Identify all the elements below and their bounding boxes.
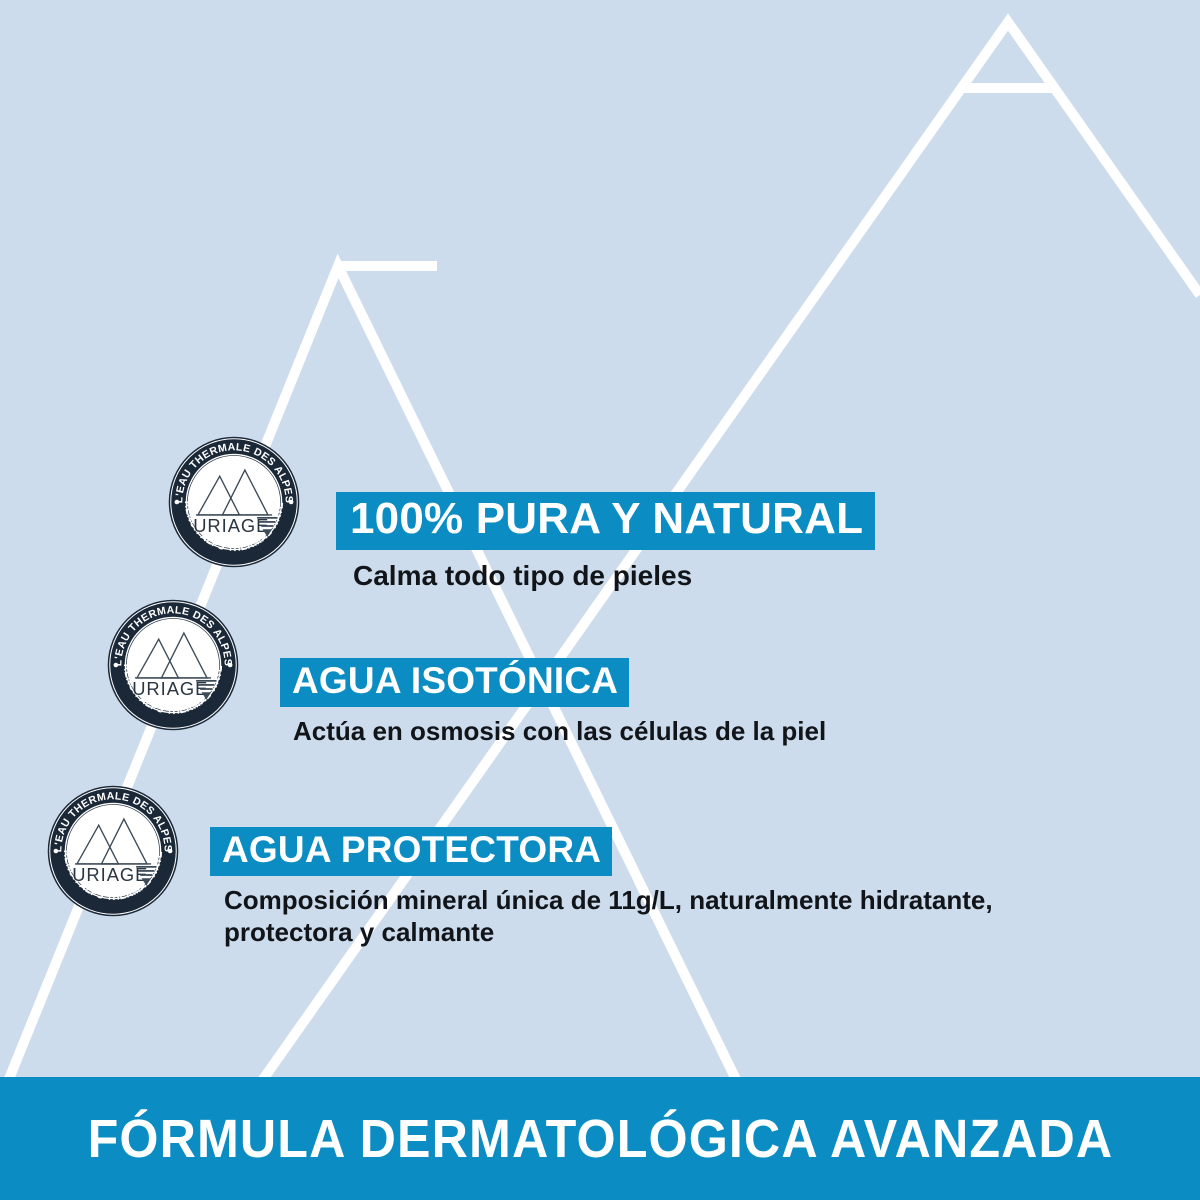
feature-subtitle: Actúa en osmosis con las células de la p…	[293, 716, 826, 748]
feature-subtitle: Composición mineral única de 11g/L, natu…	[224, 885, 1124, 948]
feature-subtitle: Calma todo tipo de pieles	[353, 559, 875, 593]
uriage-seal-icon: L'EAU THERMALE DES ALPES FRENCH ALPS THE…	[45, 783, 181, 919]
feature-heading: 100% PURA Y NATURAL	[336, 492, 875, 550]
feature-block-agua-isotonica: AGUA ISOTÓNICA Actúa en osmosis con las …	[280, 658, 826, 748]
feature-block-agua-protectora: AGUA PROTECTORA Composición mineral únic…	[210, 827, 1124, 948]
uriage-seal-icon: L'EAU THERMALE DES ALPES FRENCH ALPS THE…	[105, 597, 241, 733]
mountain-peak-right	[178, 22, 1200, 1200]
feature-heading: AGUA PROTECTORA	[210, 827, 612, 876]
feature-block-pura-y-natural: 100% PURA Y NATURAL Calma todo tipo de p…	[336, 492, 875, 593]
feature-heading: AGUA ISOTÓNICA	[280, 658, 629, 707]
bottom-banner-text: FÓRMULA DERMATOLÓGICA AVANZADA	[87, 1108, 1113, 1170]
uriage-thermal-water-infographic: L'EAU THERMALE DES ALPES FRENCH ALPS THE…	[0, 0, 1200, 1200]
uriage-seal-icon: L'EAU THERMALE DES ALPES FRENCH ALPS THE…	[166, 434, 302, 570]
bottom-banner: FÓRMULA DERMATOLÓGICA AVANZADA	[0, 1077, 1200, 1200]
